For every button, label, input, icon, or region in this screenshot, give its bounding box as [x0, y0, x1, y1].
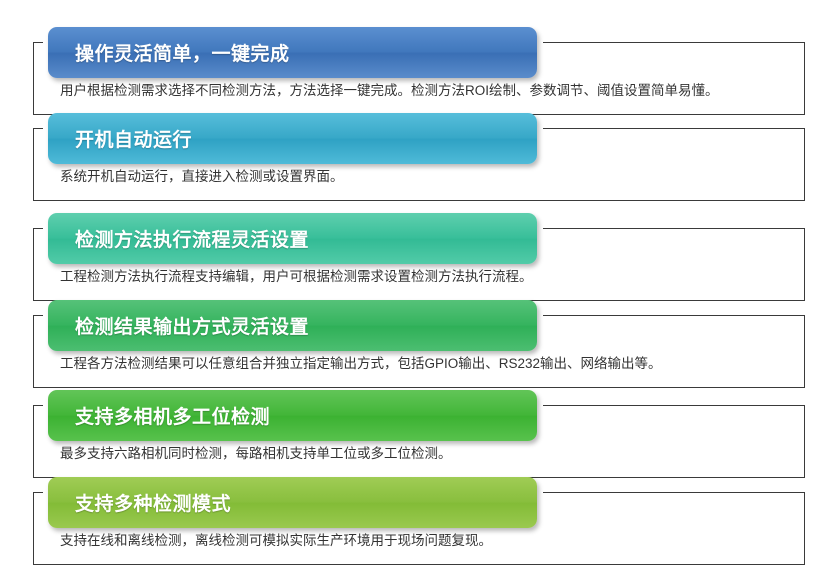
feature-block: 操作灵活简单，一键完成用户根据检测需求选择不同检测方法，方法选择一键完成。检测方…: [33, 42, 805, 115]
feature-title: 检测方法执行流程灵活设置: [48, 225, 309, 252]
feature-block: 检测结果输出方式灵活设置工程各方法检测结果可以任意组合并独立指定输出方式，包括G…: [33, 315, 805, 388]
feature-block: 支持多相机多工位检测最多支持六路相机同时检测，每路相机支持单工位或多工位检测。: [33, 405, 805, 478]
feature-block: 开机自动运行系统开机自动运行，直接进入检测或设置界面。: [33, 128, 805, 201]
feature-title: 支持多种检测模式: [48, 489, 231, 516]
feature-header-pill[interactable]: 操作灵活简单，一键完成: [48, 27, 537, 78]
feature-description: 最多支持六路相机同时检测，每路相机支持单工位或多工位检测。: [60, 444, 787, 464]
feature-header-pill[interactable]: 检测结果输出方式灵活设置: [48, 300, 537, 351]
feature-description: 工程各方法检测结果可以任意组合并独立指定输出方式，包括GPIO输出、RS232输…: [60, 354, 787, 374]
feature-block: 检测方法执行流程灵活设置工程检测方法执行流程支持编辑，用户可根据检测需求设置检测…: [33, 228, 805, 301]
feature-title: 开机自动运行: [48, 125, 192, 152]
feature-header-pill[interactable]: 支持多相机多工位检测: [48, 390, 537, 441]
feature-description: 用户根据检测需求选择不同检测方法，方法选择一键完成。检测方法ROI绘制、参数调节…: [60, 81, 787, 101]
feature-header-pill[interactable]: 支持多种检测模式: [48, 477, 537, 528]
feature-header-pill[interactable]: 开机自动运行: [48, 113, 537, 164]
feature-title: 操作灵活简单，一键完成: [48, 39, 290, 66]
feature-block: 支持多种检测模式支持在线和离线检测，离线检测可模拟实际生产环境用于现场问题复现。: [33, 492, 805, 565]
feature-title: 检测结果输出方式灵活设置: [48, 312, 309, 339]
feature-description: 支持在线和离线检测，离线检测可模拟实际生产环境用于现场问题复现。: [60, 531, 787, 551]
feature-header-pill[interactable]: 检测方法执行流程灵活设置: [48, 213, 537, 264]
feature-title: 支持多相机多工位检测: [48, 402, 270, 429]
feature-description: 工程检测方法执行流程支持编辑，用户可根据检测需求设置检测方法执行流程。: [60, 267, 787, 287]
feature-list: 操作灵活简单，一键完成用户根据检测需求选择不同检测方法，方法选择一键完成。检测方…: [0, 0, 836, 588]
feature-description: 系统开机自动运行，直接进入检测或设置界面。: [60, 167, 787, 187]
